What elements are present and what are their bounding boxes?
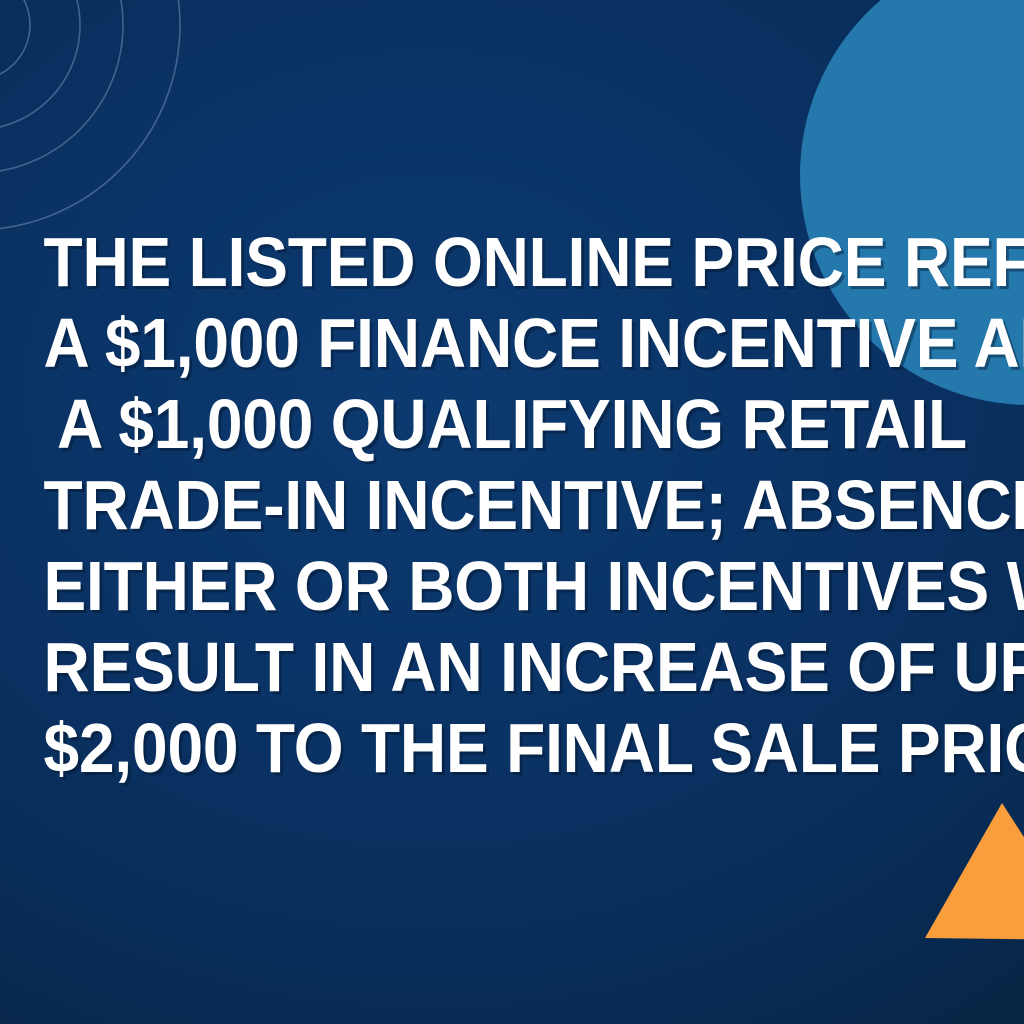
headline-line-2: A $1,000 FINANCE INCENTIVE AND <box>44 303 981 384</box>
headline-line-6: RESULT IN AN INCREASE OF UP TO <box>44 627 981 708</box>
headline-line-7: $2,000 TO THE FINAL SALE PRICE. <box>44 708 981 789</box>
page-title: THE LISTED ONLINE PRICE REFLECTS A $1,00… <box>44 222 981 789</box>
poster-canvas: THE LISTED ONLINE PRICE REFLECTS A $1,00… <box>0 0 1024 1024</box>
headline-line-5: EITHER OR BOTH INCENTIVES WILL <box>44 546 981 627</box>
headline-line-4: TRADE-IN INCENTIVE; ABSENCE OF <box>44 465 981 546</box>
headline-line-3: A $1,000 QUALIFYING RETAIL <box>44 384 981 465</box>
headline-line-1: THE LISTED ONLINE PRICE REFLECTS <box>44 222 981 303</box>
